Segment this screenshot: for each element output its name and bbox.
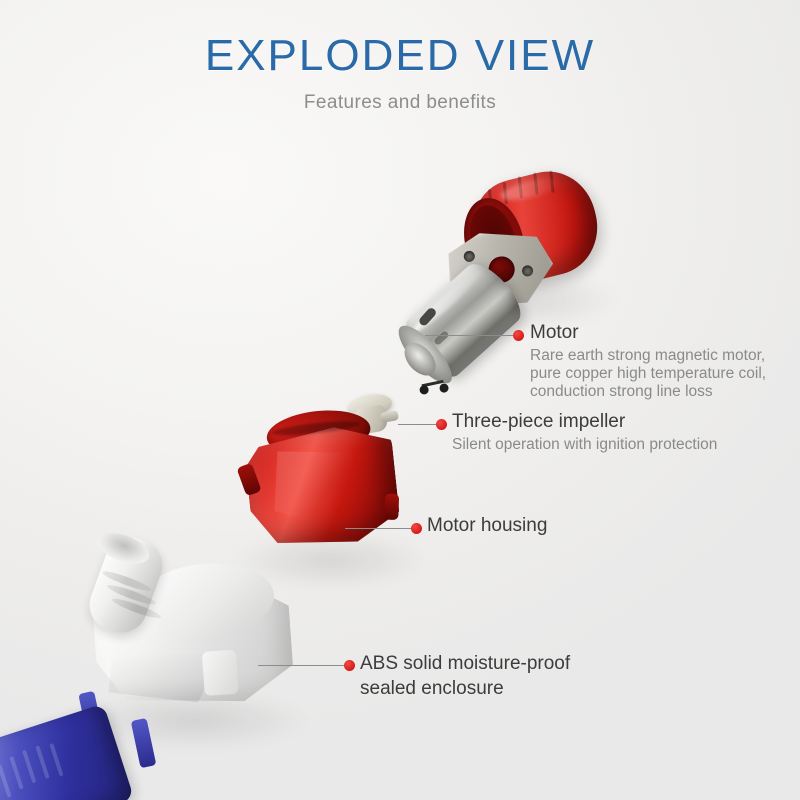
callout-dot-housing [411,523,422,534]
callout-desc-motor: Rare earth strong magnetic motor, pure c… [530,347,766,402]
page-subtitle: Features and benefits [0,92,800,114]
leader-line-motor [425,335,515,336]
callout-housing[interactable]: Motor housing [427,515,547,537]
callout-desc-impeller: Silent operation with ignition protectio… [452,436,717,454]
callout-title-impeller: Three-piece impeller [452,411,717,433]
callout-title-motor: Motor [530,322,766,344]
callout-dot-motor [513,330,524,341]
callout-enclosure[interactable]: ABS solid moisture-proof sealed enclosur… [360,652,570,701]
callout-impeller[interactable]: Three-piece impeller Silent operation wi… [452,411,717,454]
leader-line-enclosure [258,665,346,666]
infographic-canvas: EXPLODED VIEW Features and benefits [0,0,800,800]
housing-latch-tab [384,494,399,520]
page-title: EXPLODED VIEW [0,34,800,78]
callout-title-enclosure: ABS solid moisture-proof sealed enclosur… [360,652,570,701]
callout-motor[interactable]: Motor Rare earth strong magnetic motor, … [530,322,766,402]
abs-mount-lug [202,650,239,696]
callout-dot-impeller [436,419,447,430]
callout-title-housing: Motor housing [427,515,547,537]
strainer-fin [131,718,157,768]
callout-dot-enclosure [344,660,355,671]
leader-line-impeller [398,424,438,425]
leader-line-housing [345,528,413,529]
header: EXPLODED VIEW Features and benefits [0,34,800,114]
